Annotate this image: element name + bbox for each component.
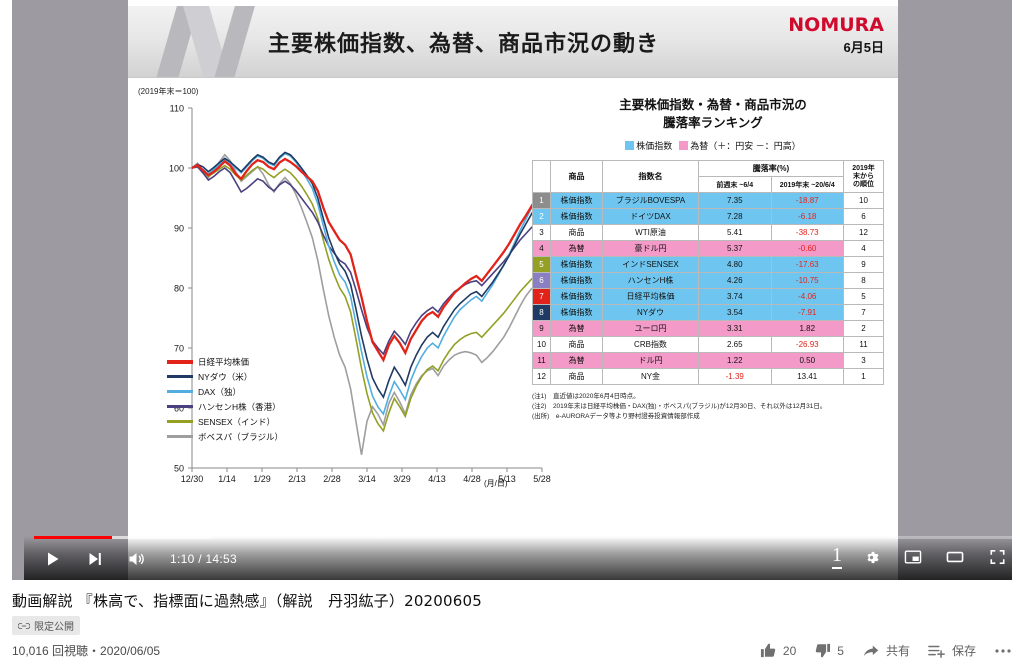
table-row: 6株価指数ハンセンH株4.26-10.758 [533,273,884,289]
th-index-name: 指数名 [603,161,699,193]
cell-rank: 10 [533,337,551,353]
cell-change-week: -1.39 [699,369,772,385]
cell-change-week: 5.41 [699,225,772,241]
cell-index-name: WTI原油 [603,225,699,241]
cell-category: 株価指数 [551,209,603,225]
ranking-title-line2: 騰落率ランキング [532,114,894,132]
cell-index-name: ハンセンH株 [603,273,699,289]
ranking-table: 商品 指数名 騰落率(%) 2019年 末から の順位 前週末 ~6/4 201 [532,160,884,385]
cell-rank-ytd: 1 [844,369,884,385]
cell-change-ytd: -38.73 [771,225,844,241]
cell-rank: 9 [533,321,551,337]
thumbs-up-icon [760,642,777,659]
share-icon [862,643,880,659]
cell-rank: 5 [533,257,551,273]
cell-index-name: インドSENSEX [603,257,699,273]
legend-item: ハンセンH株（香港） [167,399,283,414]
cell-index-name: ドイツDAX [603,209,699,225]
cell-rank: 1 [533,193,551,209]
legend-label: DAX（独） [198,386,241,398]
player-bottom-divider [12,583,1012,584]
metrics-row: 10,016 回視聴・2020/06/05 20 5 [12,642,1012,659]
settings-gear-icon[interactable] [858,544,884,570]
cell-index-name: NYダウ [603,305,699,321]
svg-text:110: 110 [170,104,184,114]
ranking-legend-item: 為替（＋：円安 －：円高） [679,139,801,152]
cell-category: 商品 [551,225,603,241]
progress-bar[interactable] [34,536,1012,539]
controls-left: 1:10 / 14:53 [40,546,237,572]
dislike-button[interactable]: 5 [814,642,844,659]
progress-played [34,536,112,539]
badge-row: 限定公開 [12,616,1012,635]
cell-rank-ytd: 11 [844,337,884,353]
chart-legend: 日経平均株価NYダウ（米）DAX（独）ハンセンH株（香港）SENSEX（インド）… [167,354,283,444]
th-change-group: 騰落率(%) [699,161,844,177]
th-rank-ytd: 2019年 末から の順位 [844,161,884,193]
save-button[interactable]: 保存 [928,642,976,659]
ranking-legend-chip [679,141,688,150]
cell-change-ytd: -6.18 [771,209,844,225]
player-controls[interactable]: 1:10 / 14:53 1 [24,536,1012,580]
svg-text:3/29: 3/29 [393,474,411,484]
table-header-row-1: 商品 指数名 騰落率(%) 2019年 末から の順位 [533,161,884,177]
cell-category: 株価指数 [551,273,603,289]
brand-block: NOMURA 6月5日 [788,14,884,56]
cell-rank-ytd: 5 [844,289,884,305]
cell-category: 株価指数 [551,289,603,305]
svg-text:1/29: 1/29 [253,474,271,484]
svg-text:12/30: 12/30 [181,474,204,484]
next-button[interactable] [82,546,108,572]
th-rank-ytd-l3: の順位 [844,181,883,189]
cell-index-name: ユーロ円 [603,321,699,337]
legend-swatch [167,375,193,378]
table-row: 12商品NY金-1.3913.411 [533,369,884,385]
cell-index-name: ブラジルBOVESPA [603,193,699,209]
presentation-slide: 主要株価指数、為替、商品市況の動き NOMURA 6月5日 (2019年末＝10… [128,0,898,580]
video-metadata: 動画解説 『株高で、指標面に過熱感』（解説 丹羽紘子）20200605 限定公開… [12,590,1012,635]
cell-category: 株価指数 [551,305,603,321]
cell-rank-ytd: 7 [844,305,884,321]
thumbs-down-icon [814,642,831,659]
legend-swatch [167,420,193,423]
legend-item: NYダウ（米） [167,369,283,384]
cell-rank: 12 [533,369,551,385]
cell-change-week: 3.74 [699,289,772,305]
table-row: 7株価指数日経平均株価3.74-4.065 [533,289,884,305]
th-category: 商品 [551,161,603,193]
like-button[interactable]: 20 [760,642,796,659]
cell-category: 為替 [551,353,603,369]
cell-change-ytd: 1.82 [771,321,844,337]
legend-item: 日経平均株価 [167,354,283,369]
controls-right: 1 [832,544,1010,570]
ranking-legend-label: 株価指数 [636,141,672,151]
ranking-legend-chip [625,141,634,150]
status-badge: 限定公開 [12,616,80,635]
svg-text:50: 50 [174,464,184,474]
table-row: 2株価指数ドイツDAX7.28-6.186 [533,209,884,225]
cell-category: 株価指数 [551,257,603,273]
video-title: 動画解説 『株高で、指標面に過熱感』（解説 丹羽紘子）20200605 [12,590,1012,611]
svg-text:2/28: 2/28 [323,474,341,484]
cell-rank: 2 [533,209,551,225]
time-display: 1:10 / 14:53 [170,552,237,566]
cell-change-ytd: -4.06 [771,289,844,305]
svg-text:4/28: 4/28 [463,474,481,484]
svg-text:80: 80 [174,284,184,294]
table-row: 4為替豪ドル円5.37-0.604 [533,241,884,257]
cell-rank-ytd: 4 [844,241,884,257]
table-note-line: (注1) 直近値は2020年6月4日時点。 [532,392,894,402]
cell-change-ytd: -18.87 [771,193,844,209]
cell-change-ytd: 0.50 [771,353,844,369]
cell-category: 為替 [551,241,603,257]
slide-title: 主要株価指数、為替、商品市況の動き [268,26,659,58]
cell-change-week: 7.35 [699,193,772,209]
svg-text:5/28: 5/28 [533,474,551,484]
slide-date: 6月5日 [788,37,884,56]
table-row: 1株価指数ブラジルBOVESPA7.35-18.8710 [533,193,884,209]
letterbox-right [898,0,1012,580]
cell-change-ytd: -26.93 [771,337,844,353]
cell-index-name: NY金 [603,369,699,385]
ranking-table-head: 商品 指数名 騰落率(%) 2019年 末から の順位 前週末 ~6/4 201 [533,161,884,193]
table-note-line: (出所) e-AURORAデータ等より野村證券投資情報部作成 [532,412,894,422]
ranking-title-line1: 主要株価指数・為替・商品市況の [532,96,894,114]
legend-label: ボベスパ（ブラジル） [198,431,283,443]
cell-rank-ytd: 2 [844,321,884,337]
cell-rank-ytd: 8 [844,273,884,289]
cell-rank: 4 [533,241,551,257]
table-row: 11為替ドル円1.220.503 [533,353,884,369]
legend-label: 日経平均株価 [198,356,249,368]
cell-change-week: 7.28 [699,209,772,225]
more-dots-icon [994,648,1012,654]
th-change-ytd: 2019年末 ~20/6/4 [771,177,844,193]
table-notes: (注1) 直近値は2020年6月4日時点。(注2) 2019年末は日経平均株価・… [532,392,894,422]
save-label: 保存 [952,642,976,659]
legend-label: SENSEX（インド） [198,416,275,428]
series-line [192,167,542,354]
cell-category: 商品 [551,337,603,353]
miniplayer-button[interactable] [900,544,926,570]
legend-swatch [167,405,193,408]
cell-rank-ytd: 9 [844,257,884,273]
action-buttons: 20 5 共有 [760,642,1012,659]
save-playlist-icon [928,643,946,659]
cell-rank: 11 [533,353,551,369]
dislike-count: 5 [837,644,844,658]
cell-change-ytd: 13.41 [771,369,844,385]
ranking-legend: 株価指数為替（＋：円安 －：円高） [532,139,894,152]
status-badge-label: 限定公開 [34,618,74,633]
ranking-legend-item: 株価指数 [625,139,672,152]
nomura-logo: NOMURA [788,14,884,36]
volume-button[interactable] [124,546,150,572]
cell-change-week: 3.31 [699,321,772,337]
cell-change-week: 4.80 [699,257,772,273]
cell-change-ytd: -17.63 [771,257,844,273]
x-axis-unit: (月/日) [484,478,508,489]
cell-category: 為替 [551,321,603,337]
cell-change-week: 1.22 [699,353,772,369]
cell-index-name: 豪ドル円 [603,241,699,257]
table-row: 5株価指数インドSENSEX4.80-17.639 [533,257,884,273]
svg-text:2/13: 2/13 [288,474,306,484]
share-button[interactable]: 共有 [862,642,910,659]
cell-rank: 3 [533,225,551,241]
link-icon [18,622,30,630]
letterbox-left [12,0,128,580]
share-label: 共有 [886,642,910,659]
cell-change-ytd: -7.91 [771,305,844,321]
ranking-legend-label: 為替（＋：円安 －：円高） [690,141,801,151]
svg-text:90: 90 [174,224,184,234]
view-count-line: 10,016 回視聴・2020/06/05 [12,642,160,659]
cell-change-ytd: -0.60 [771,241,844,257]
svg-text:4/13: 4/13 [428,474,446,484]
cell-rank: 7 [533,289,551,305]
fullscreen-button[interactable] [984,544,1010,570]
ranking-table-body: 1株価指数ブラジルBOVESPA7.35-18.87102株価指数ドイツDAX7… [533,193,884,385]
cell-change-week: 2.65 [699,337,772,353]
cell-change-ytd: -10.75 [771,273,844,289]
table-row: 8株価指数NYダウ3.54-7.917 [533,305,884,321]
slide-header: 主要株価指数、為替、商品市況の動き NOMURA 6月5日 [128,6,898,78]
legend-swatch [167,390,193,393]
cell-change-week: 3.54 [699,305,772,321]
table-note-line: (注2) 2019年末は日経平均株価・DAX(独)・ボベスパ(ブラジル)が12月… [532,402,894,412]
ranking-title: 主要株価指数・為替・商品市況の 騰落率ランキング [532,96,894,132]
more-actions-button[interactable] [994,648,1012,654]
legend-item: ボベスパ（ブラジル） [167,429,283,444]
cell-change-week: 5.37 [699,241,772,257]
legend-swatch [167,360,193,364]
table-row: 3商品WTI原油5.41-38.7312 [533,225,884,241]
cell-change-week: 4.26 [699,273,772,289]
table-row: 10商品CRB指数2.65-26.9311 [533,337,884,353]
svg-text:1/14: 1/14 [218,474,236,484]
cell-rank-ytd: 6 [844,209,884,225]
cell-rank-ytd: 3 [844,353,884,369]
svg-text:100: 100 [169,164,184,174]
cell-index-name: CRB指数 [603,337,699,353]
play-button[interactable] [40,546,66,572]
cell-rank: 6 [533,273,551,289]
th-rank-ytd-l1: 2019年 [844,165,883,173]
legend-item: DAX（独） [167,384,283,399]
legend-label: ハンセンH株（香港） [198,401,281,413]
legend-swatch [167,435,193,438]
table-row: 9為替ユーロ円3.311.822 [533,321,884,337]
cell-category: 商品 [551,369,603,385]
cell-category: 株価指数 [551,193,603,209]
video-player[interactable]: 主要株価指数、為替、商品市況の動き NOMURA 6月5日 (2019年末＝10… [12,0,1012,580]
playback-speed-badge[interactable]: 1 [832,545,842,569]
svg-text:70: 70 [174,344,184,354]
th-rank-ytd-l2: 末から [844,173,883,181]
line-chart: (2019年末＝100) 5060708090100110 12/301/141… [132,86,552,506]
legend-item: SENSEX（インド） [167,414,283,429]
cell-rank: 8 [533,305,551,321]
theater-mode-button[interactable] [942,544,968,570]
th-change-week: 前週末 ~6/4 [699,177,772,193]
cell-rank-ytd: 10 [844,193,884,209]
svg-text:3/14: 3/14 [358,474,376,484]
cell-index-name: 日経平均株価 [603,289,699,305]
th-rank [533,161,551,193]
cell-rank-ytd: 12 [844,225,884,241]
ranking-panel: 主要株価指数・為替・商品市況の 騰落率ランキング 株価指数為替（＋：円安 －：円… [532,96,894,422]
legend-label: NYダウ（米） [198,371,252,383]
like-count: 20 [783,644,796,658]
cell-index-name: ドル円 [603,353,699,369]
